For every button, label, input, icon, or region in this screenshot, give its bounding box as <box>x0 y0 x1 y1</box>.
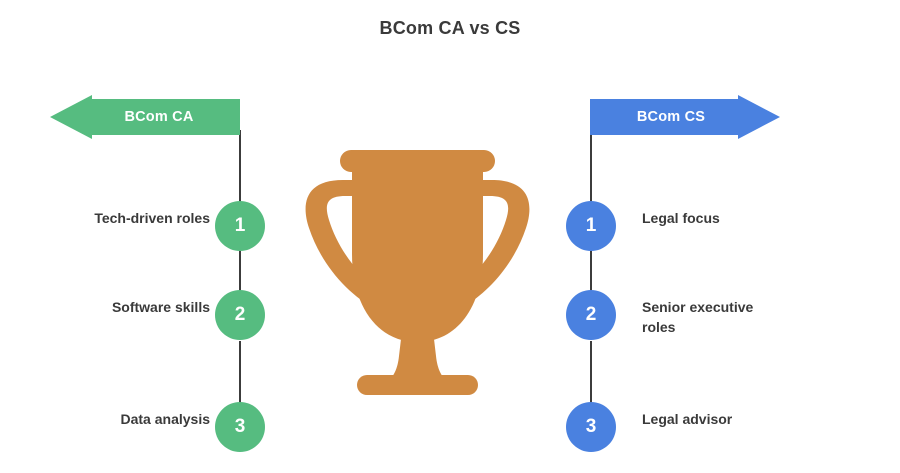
step-circle-cs-2[interactable]: 2 <box>566 290 616 340</box>
connector-left-1 <box>239 251 241 291</box>
step-circle-cs-3[interactable]: 3 <box>566 402 616 452</box>
step-number-ca-1: 1 <box>235 215 246 237</box>
step-label-cs-2: Senior executive roles <box>642 297 782 338</box>
step-number-cs-3: 3 <box>586 416 597 438</box>
step-label-cs-1: Legal focus <box>642 208 832 228</box>
step-circle-ca-3[interactable]: 3 <box>215 402 265 452</box>
step-label-ca-3: Data analysis <box>10 409 210 429</box>
banner-label-bcom-ca: BCom CA <box>124 109 193 125</box>
step-number-ca-3: 3 <box>235 416 246 438</box>
banner-bcom-ca[interactable]: BCom CA <box>50 95 240 139</box>
connector-right-2 <box>590 341 592 403</box>
infographic-canvas: BCom CA vs CS BCom CA BCom CS 1 2 <box>0 0 900 473</box>
step-circle-ca-2[interactable]: 2 <box>215 290 265 340</box>
step-circle-cs-1[interactable]: 1 <box>566 201 616 251</box>
connector-left-0 <box>239 130 241 202</box>
step-label-ca-2: Software skills <box>10 297 210 317</box>
page-title: BCom CA vs CS <box>0 18 900 39</box>
step-circle-ca-1[interactable]: 1 <box>215 201 265 251</box>
banner-label-bcom-cs: BCom CS <box>637 109 705 125</box>
connector-right-1 <box>590 251 592 291</box>
step-number-cs-2: 2 <box>586 304 597 326</box>
connector-left-2 <box>239 341 241 403</box>
connector-right-0 <box>590 130 592 202</box>
step-number-ca-2: 2 <box>235 304 246 326</box>
trophy-icon <box>295 142 540 397</box>
step-label-ca-1: Tech-driven roles <box>10 208 210 228</box>
step-number-cs-1: 1 <box>586 215 597 237</box>
banner-bcom-cs[interactable]: BCom CS <box>590 95 780 139</box>
step-label-cs-3: Legal advisor <box>642 409 832 429</box>
